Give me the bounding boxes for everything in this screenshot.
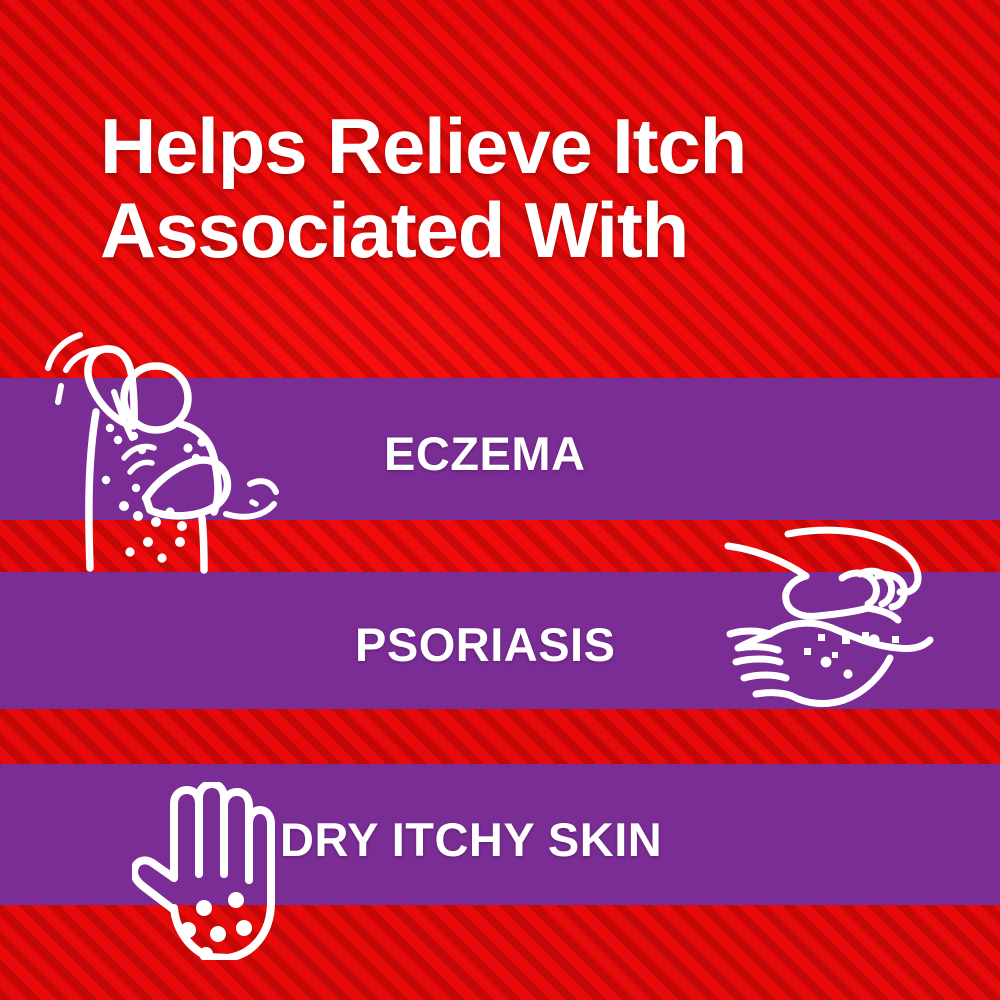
headline-line-1: Helps Relieve Itch [100, 104, 920, 188]
condition-band-psoriasis: PSORIASIS [0, 572, 1000, 709]
condition-label-eczema: ECZEMA [384, 426, 585, 481]
condition-label-dry-itchy-skin: DRY ITCHY SKIN [280, 812, 662, 867]
headline-line-2: Associated With [100, 188, 920, 272]
headline: Helps Relieve Itch Associated With [100, 104, 920, 272]
condition-label-psoriasis: PSORIASIS [355, 617, 615, 672]
promotional-poster: Helps Relieve Itch Associated With ECZEM… [0, 0, 1000, 1000]
condition-band-dry-itchy-skin: DRY ITCHY SKIN [0, 764, 1000, 905]
condition-band-eczema: ECZEMA [0, 378, 1000, 520]
